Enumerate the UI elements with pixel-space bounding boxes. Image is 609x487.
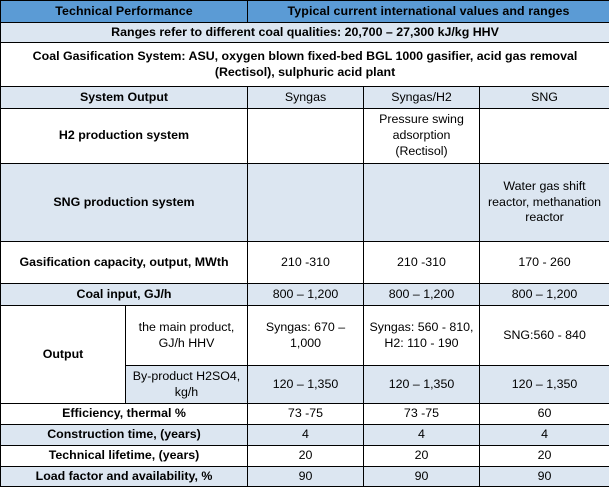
table-row: Output the main product, GJ/h HHV Syngas… [1, 306, 609, 366]
technical-performance-table-container: Technical Performance Typical current in… [0, 0, 609, 486]
cell-efficiency-syngas: 73 -75 [248, 404, 364, 425]
banner-coal-gasification-system: Coal Gasification System: ASU, oxygen bl… [1, 43, 609, 87]
cell-load-factor-sng: 90 [480, 467, 609, 487]
cell-main-product-syngas-h2: Syngas: 560 - 810, H2: 110 - 190 [364, 306, 480, 366]
column-header-sng: SNG [480, 87, 609, 109]
table-row: SNG production system Water gas shift re… [1, 164, 609, 242]
header-technical-performance: Technical Performance [1, 1, 248, 23]
row-label-efficiency-thermal: Efficiency, thermal % [1, 404, 248, 425]
cell-sng-production-sng: Water gas shift reactor, methanation rea… [480, 164, 609, 242]
row-label-output: Output [1, 306, 126, 404]
cell-gasification-capacity-syngas: 210 -310 [248, 242, 364, 284]
cell-coal-input-syngas-h2: 800 – 1,200 [364, 284, 480, 306]
column-header-system-output: System Output [1, 87, 248, 109]
cell-coal-input-sng: 800 – 1,200 [480, 284, 609, 306]
cell-construction-time-syngas: 4 [248, 425, 364, 446]
table-row: Coal input, GJ/h 800 – 1,200 800 – 1,200… [1, 284, 609, 306]
cell-technical-lifetime-syngas-h2: 20 [364, 446, 480, 467]
cell-main-product-syngas: Syngas: 670 – 1,000 [248, 306, 364, 366]
cell-gasification-capacity-syngas-h2: 210 -310 [364, 242, 480, 284]
cell-by-product-sng: 120 – 1,350 [480, 366, 609, 404]
table-row: Construction time, (years) 4 4 4 [1, 425, 609, 446]
cell-by-product-syngas-h2: 120 – 1,350 [364, 366, 480, 404]
row-label-gasification-capacity: Gasification capacity, output, MWth [1, 242, 248, 284]
table-row: Efficiency, thermal % 73 -75 73 -75 60 [1, 404, 609, 425]
table-row: Gasification capacity, output, MWth 210 … [1, 242, 609, 284]
cell-efficiency-syngas-h2: 73 -75 [364, 404, 480, 425]
row-label-sng-production-system: SNG production system [1, 164, 248, 242]
cell-load-factor-syngas-h2: 90 [364, 467, 480, 487]
cell-construction-time-syngas-h2: 4 [364, 425, 480, 446]
cell-technical-lifetime-sng: 20 [480, 446, 609, 467]
table-row: Load factor and availability, % 90 90 90 [1, 467, 609, 487]
cell-gasification-capacity-sng: 170 - 260 [480, 242, 609, 284]
cell-coal-input-syngas: 800 – 1,200 [248, 284, 364, 306]
cell-h2-production-sng [480, 109, 609, 164]
row-label-coal-input: Coal input, GJ/h [1, 284, 248, 306]
cell-construction-time-sng: 4 [480, 425, 609, 446]
table-row: H2 production system Pressure swing adso… [1, 109, 609, 164]
row-label-technical-lifetime: Technical lifetime, (years) [1, 446, 248, 467]
sub-label-by-product: By-product H2SO4, kg/h [126, 366, 248, 404]
cell-technical-lifetime-syngas: 20 [248, 446, 364, 467]
table-system-banner-row: Coal Gasification System: ASU, oxygen bl… [1, 43, 609, 87]
cell-load-factor-syngas: 90 [248, 467, 364, 487]
row-label-h2-production-system: H2 production system [1, 109, 248, 164]
technical-performance-table: Technical Performance Typical current in… [0, 0, 609, 487]
table-note-row: Ranges refer to different coal qualities… [1, 23, 609, 43]
row-label-construction-time: Construction time, (years) [1, 425, 248, 446]
cell-efficiency-sng: 60 [480, 404, 609, 425]
sub-label-main-product: the main product, GJ/h HHV [126, 306, 248, 366]
table-header-row: Technical Performance Typical current in… [1, 1, 609, 23]
note-coal-qualities: Ranges refer to different coal qualities… [1, 23, 609, 43]
cell-by-product-syngas: 120 – 1,350 [248, 366, 364, 404]
cell-h2-production-syngas-h2: Pressure swing adsorption (Rectisol) [364, 109, 480, 164]
cell-main-product-sng: SNG:560 - 840 [480, 306, 609, 366]
table-row: Technical lifetime, (years) 20 20 20 [1, 446, 609, 467]
table-column-header-row: System Output Syngas Syngas/H2 SNG [1, 87, 609, 109]
row-label-load-factor: Load factor and availability, % [1, 467, 248, 487]
cell-sng-production-syngas [248, 164, 364, 242]
column-header-syngas-h2: Syngas/H2 [364, 87, 480, 109]
cell-sng-production-syngas-h2 [364, 164, 480, 242]
header-typical-values: Typical current international values and… [248, 1, 609, 23]
cell-h2-production-syngas [248, 109, 364, 164]
column-header-syngas: Syngas [248, 87, 364, 109]
